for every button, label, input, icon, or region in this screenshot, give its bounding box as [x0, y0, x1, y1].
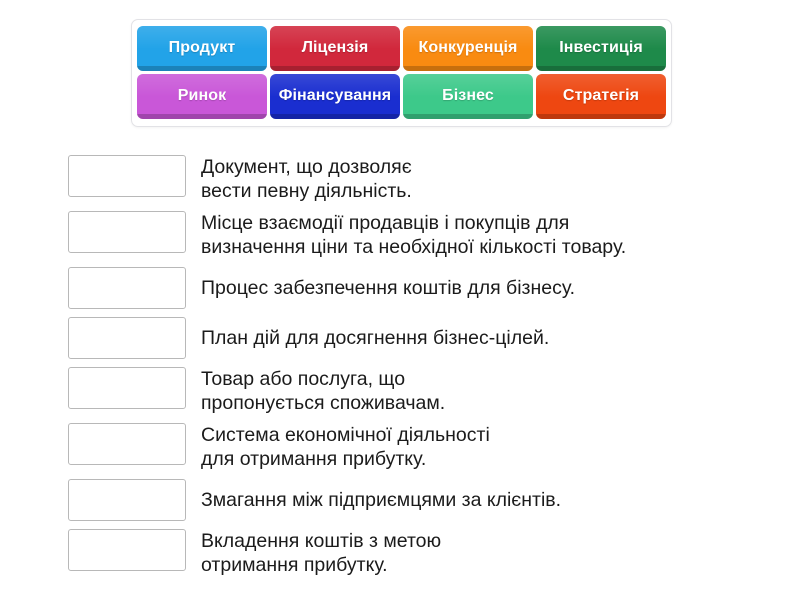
- definition-text: Товар або послуга, що пропонується спожи…: [186, 367, 784, 415]
- answer-drop-slot[interactable]: [68, 211, 186, 253]
- answer-drop-slot[interactable]: [68, 155, 186, 197]
- definition-text: Місце взаємодії продавців і покупців для…: [186, 211, 784, 259]
- answer-drop-slot[interactable]: [68, 479, 186, 521]
- word-tile-bank: ПродуктЛіцензіяКонкуренціяІнвестиціяРино…: [131, 19, 672, 127]
- definition-text: Документ, що дозволяє вести певну діяльн…: [186, 155, 784, 203]
- word-tile[interactable]: Ліцензія: [270, 26, 400, 71]
- definition-text: Змагання між підприємцями за клієнтів.: [186, 479, 784, 512]
- answer-drop-slot[interactable]: [68, 267, 186, 309]
- definition-text: Система економічної діяльності для отрим…: [186, 423, 784, 471]
- word-tile[interactable]: Конкуренція: [403, 26, 533, 71]
- answer-drop-slot[interactable]: [68, 317, 186, 359]
- word-tile-label: Конкуренція: [419, 40, 518, 57]
- definition-row: Товар або послуга, що пропонується спожи…: [68, 367, 784, 415]
- word-tile[interactable]: Ринок: [137, 74, 267, 119]
- definition-row: Вкладення коштів з метою отримання прибу…: [68, 529, 784, 577]
- definition-text: Вкладення коштів з метою отримання прибу…: [186, 529, 784, 577]
- definition-text: Процес забезпечення коштів для бізнесу.: [186, 267, 784, 300]
- answer-drop-slot[interactable]: [68, 529, 186, 571]
- tile-row: ПродуктЛіцензіяКонкуренціяІнвестиція: [137, 26, 666, 71]
- word-tile-label: Стратегія: [563, 88, 639, 105]
- word-tile[interactable]: Бізнес: [403, 74, 533, 119]
- definition-row: Документ, що дозволяє вести певну діяльн…: [68, 155, 784, 203]
- word-tile-label: Бізнес: [442, 88, 494, 105]
- word-tile[interactable]: Стратегія: [536, 74, 666, 119]
- word-tile-label: Ринок: [178, 88, 226, 105]
- answer-drop-slot[interactable]: [68, 367, 186, 409]
- word-tile-label: Ліцензія: [302, 40, 369, 57]
- definition-row: Змагання між підприємцями за клієнтів.: [68, 479, 784, 521]
- definition-list: Документ, що дозволяє вести певну діяльн…: [68, 155, 784, 585]
- word-tile-label: Продукт: [169, 40, 236, 57]
- definition-row: Місце взаємодії продавців і покупців для…: [68, 211, 784, 259]
- word-tile-label: Інвестиція: [559, 40, 643, 57]
- definition-row: Система економічної діяльності для отрим…: [68, 423, 784, 471]
- answer-drop-slot[interactable]: [68, 423, 186, 465]
- definition-row: Процес забезпечення коштів для бізнесу.: [68, 267, 784, 309]
- word-tile[interactable]: Фінансування: [270, 74, 400, 119]
- tile-row: РинокФінансуванняБізнесСтратегія: [137, 74, 666, 119]
- word-tile[interactable]: Продукт: [137, 26, 267, 71]
- word-tile-label: Фінансування: [279, 88, 392, 105]
- definition-row: План дій для досягнення бізнес-цілей.: [68, 317, 784, 359]
- word-tile[interactable]: Інвестиція: [536, 26, 666, 71]
- definition-text: План дій для досягнення бізнес-цілей.: [186, 317, 784, 350]
